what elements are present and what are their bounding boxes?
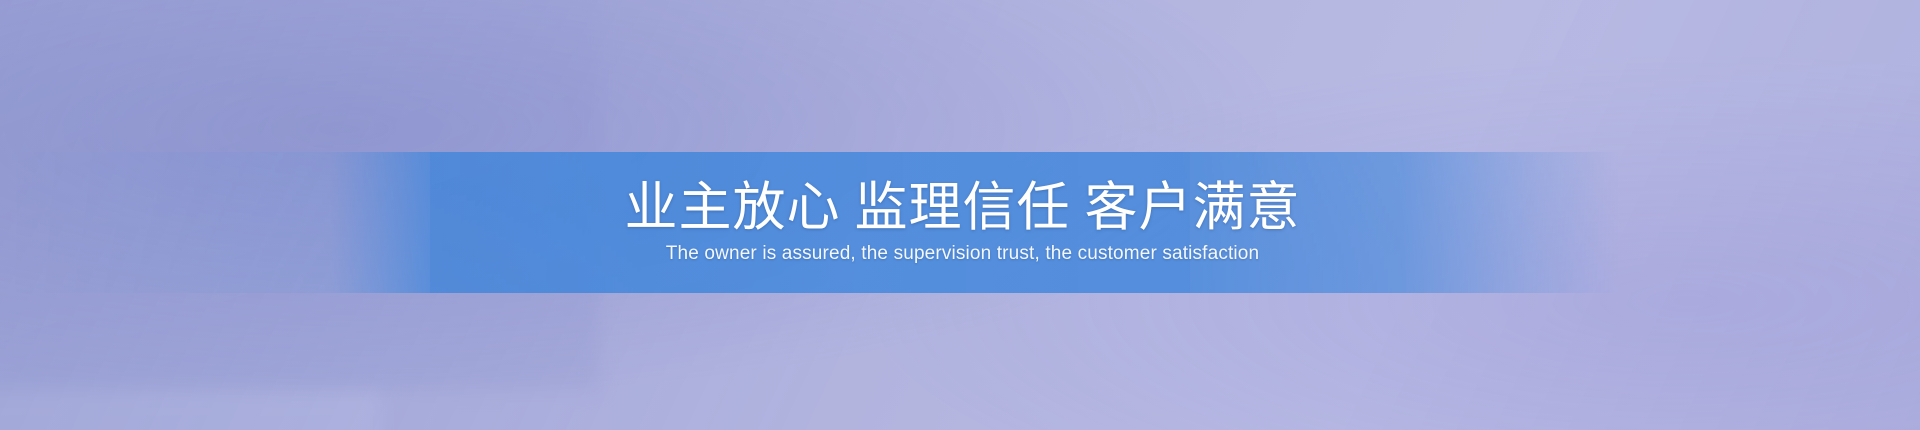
headline-part-2: 监理信任: [855, 178, 1071, 237]
headline-part-3: 客户满意: [1085, 178, 1301, 237]
hero-banner: 业主放心监理信任客户满意 The owner is assured, the s…: [0, 0, 1920, 430]
headline-part-1: 业主放心: [625, 178, 841, 237]
banner-text-block: 业主放心监理信任客户满意 The owner is assured, the s…: [0, 152, 1920, 293]
banner-subline: The owner is assured, the supervision tr…: [666, 243, 1259, 265]
banner-headline: 业主放心监理信任客户满意: [625, 180, 1301, 235]
